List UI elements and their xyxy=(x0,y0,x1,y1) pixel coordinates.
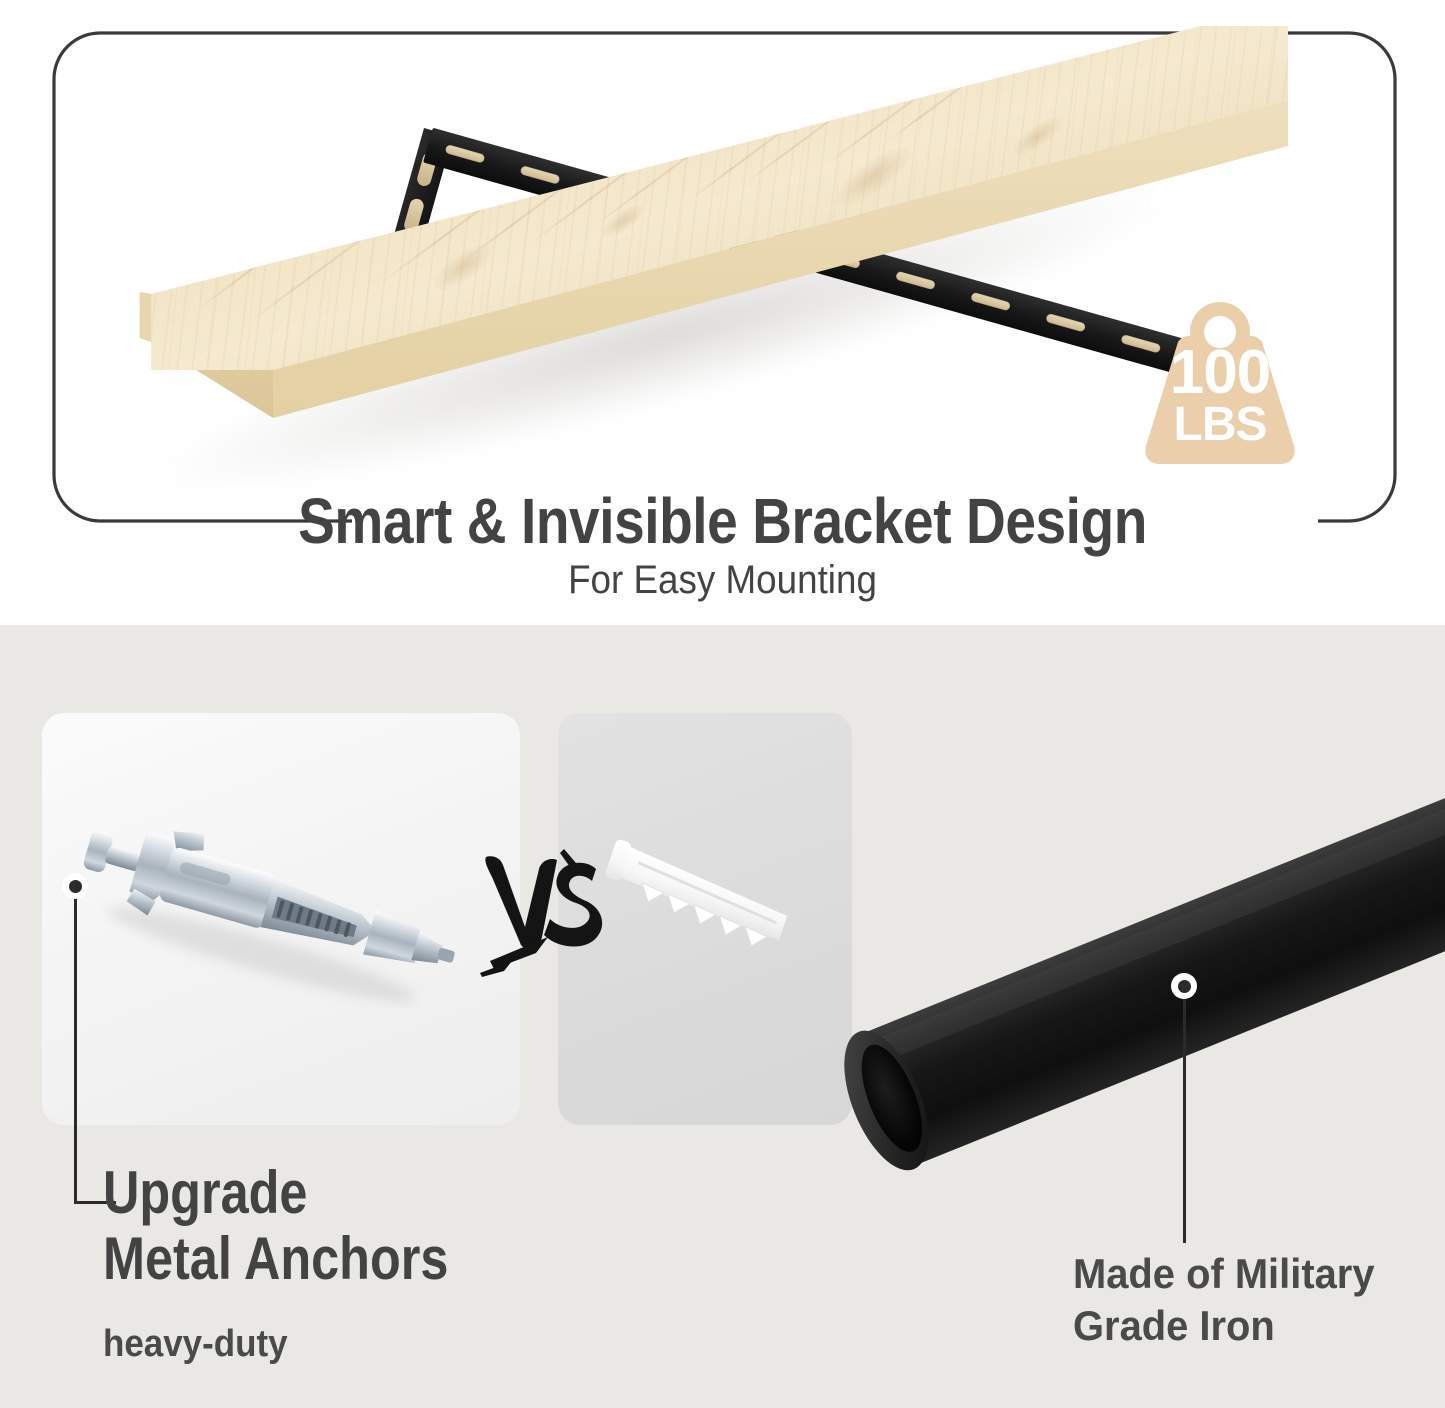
wood-grain-line xyxy=(597,44,839,224)
wood-grain-line xyxy=(787,0,1126,132)
metal-anchor-subheading: heavy-duty xyxy=(103,1322,563,1366)
page-subtitle: For Easy Mounting xyxy=(58,556,1387,604)
wood-grain-line xyxy=(167,0,618,292)
iron-callout-leader xyxy=(1183,985,1186,1243)
metal-anchor-heading: Upgrade Metal Anchors xyxy=(103,1160,624,1292)
badge-unit: LBS xyxy=(1126,402,1314,448)
iron-tube-callout-dot xyxy=(1171,973,1197,999)
vs-brush-mark xyxy=(478,841,608,981)
iron-tube-image xyxy=(800,705,1445,1285)
badge-value: 100 xyxy=(1126,344,1314,402)
top-section: 100 LBS Smart & Invisible Bracket Design… xyxy=(0,0,1445,625)
wood-knot xyxy=(1008,110,1068,161)
bracket-slot xyxy=(895,271,936,290)
wood-knot xyxy=(427,236,499,298)
wood-grain-line xyxy=(527,18,834,246)
metal-anchor-callout-dot xyxy=(62,873,88,899)
wood-grain-line xyxy=(557,0,1041,186)
bracket-slot xyxy=(445,144,486,163)
plastic-anchor-image xyxy=(592,835,822,965)
page-title: Smart & Invisible Bracket Design xyxy=(101,488,1344,554)
wood-grain-line xyxy=(342,0,954,242)
weight-capacity-badge: 100 LBS xyxy=(1126,288,1314,468)
metal-callout-leader-vertical xyxy=(74,885,77,1203)
wood-grain-line xyxy=(747,26,957,182)
wood-grain-line xyxy=(637,0,1056,166)
bracket-slot xyxy=(970,292,1011,311)
bracket-slot xyxy=(1045,313,1086,332)
iron-tube-heading: Made of Military Grade Iron xyxy=(1073,1248,1445,1352)
bracket-slot xyxy=(520,165,561,184)
metal-anchor-image xyxy=(60,809,480,1009)
wood-grain-line xyxy=(827,8,1037,164)
